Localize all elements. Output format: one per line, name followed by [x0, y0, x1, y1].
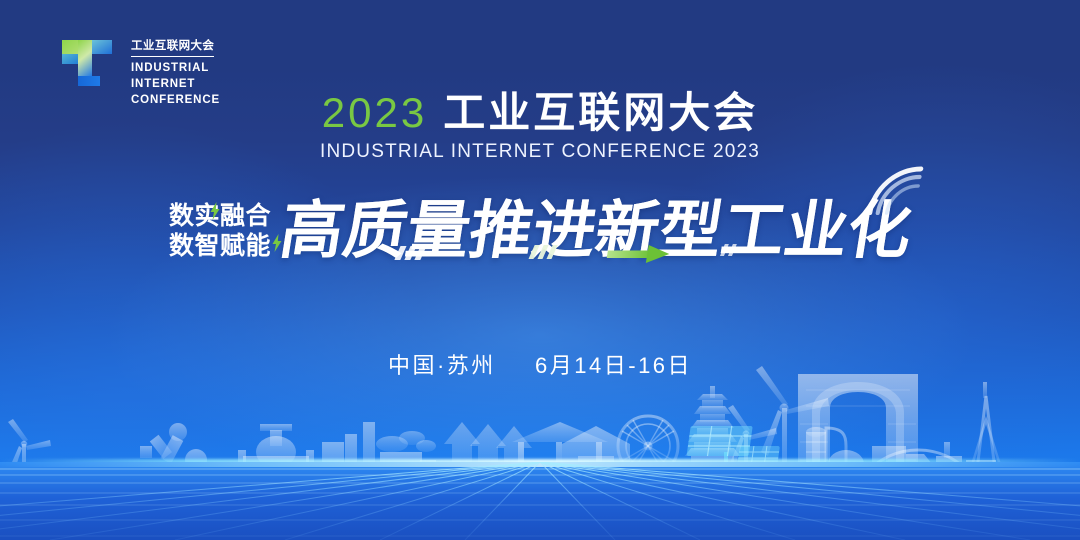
headline-text: 高质量推进新型工业化 [275, 194, 917, 267]
perspective-grid-floor [0, 462, 1080, 540]
slogan-line-1: 数实融合 [169, 203, 271, 230]
green-arrow-icon [606, 244, 671, 264]
speed-lines-icon [528, 245, 570, 259]
logo-en-line-2: INTERNET [131, 77, 220, 93]
slogan-line-1-text: 数实融合 [169, 203, 271, 230]
conference-banner: 工业互联网大会 INDUSTRIAL INTERNET CONFERENCE 2… [0, 0, 1080, 540]
wifi-signal-icon [859, 159, 926, 215]
slogan-left: 数实融合 数智赋能 [169, 203, 271, 259]
speed-lines-icon [394, 246, 440, 260]
slogan-line-2: 数智赋能 [169, 233, 271, 260]
headline-block: 数实融合 数智赋能 高质量推进新型工业化 [0, 180, 1080, 280]
slogan-line-2-text: 数智赋能 [169, 233, 271, 260]
logo-mark-icon [56, 32, 118, 94]
speed-lines-icon [720, 244, 748, 256]
logo-chinese-name: 工业互联网大会 [131, 39, 214, 57]
headline-text-wrapper: 高质量推进新型工业化 [276, 199, 916, 262]
logo-en-line-1: INDUSTRIAL [131, 61, 220, 77]
title-chinese: 工业互联网大会 [443, 92, 758, 134]
grid-lines [0, 462, 1080, 540]
lightning-bolt-icon [210, 202, 220, 220]
main-title: 2023 工业互联网大会 [0, 92, 1080, 134]
title-year: 2023 [322, 92, 427, 134]
